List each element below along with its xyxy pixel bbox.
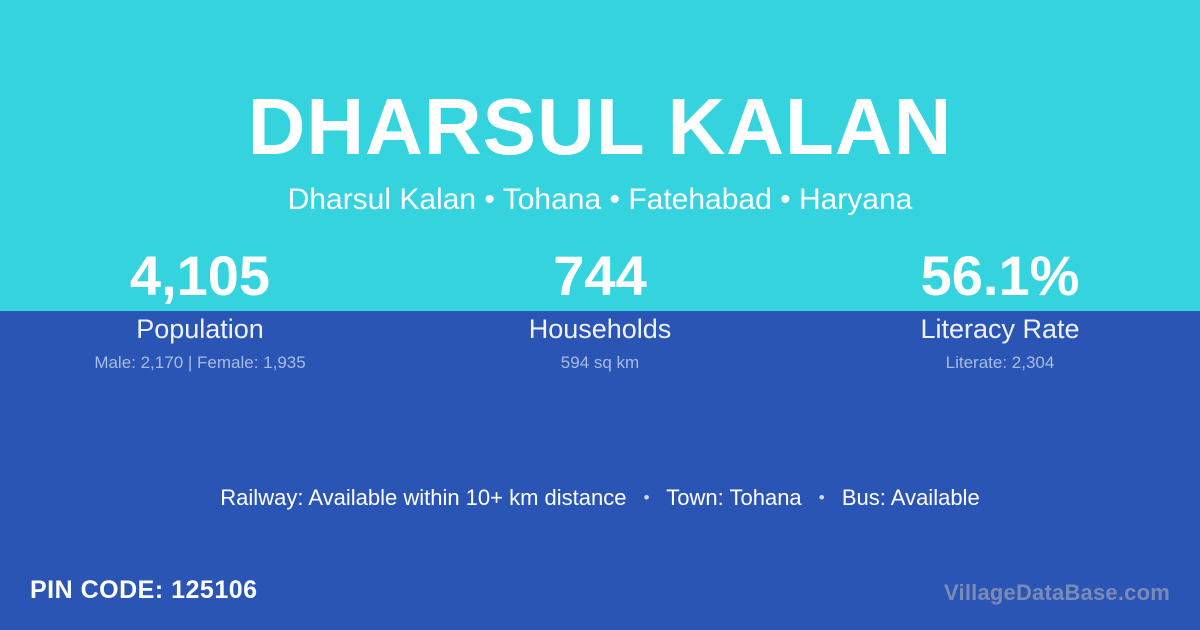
breadcrumb: Dharsul Kalan • Tohana • Fatehabad • Har… (0, 181, 1200, 219)
amenity-railway: Railway: Available within 10+ km distanc… (220, 485, 626, 510)
page-title: DHARSUL KALAN (0, 81, 1200, 173)
stat-households-value: 744 (400, 245, 800, 307)
stat-population-value: 4,105 (0, 245, 400, 307)
stat-population-sub: Male: 2,170 | Female: 1,935 (0, 352, 400, 373)
stat-literacy-rate: 56.1% Literacy Rate Literate: 2,304 (800, 245, 1200, 385)
stat-households-label: Households (400, 313, 800, 345)
stat-households-sub: 594 sq km (400, 352, 800, 373)
site-branding: VillageDataBase.com (944, 578, 1170, 608)
amenity-town: Town: Tohana (666, 485, 801, 510)
village-info-card: DHARSUL KALAN Dharsul Kalan • Tohana • F… (0, 0, 1200, 630)
amenity-bus: Bus: Available (842, 485, 980, 510)
bullet-separator-icon: • (808, 483, 836, 513)
stat-population: 4,105 Population Male: 2,170 | Female: 1… (0, 245, 400, 385)
stat-households: 744 Households 594 sq km (400, 245, 800, 385)
stat-population-label: Population (0, 313, 400, 345)
stat-literacy-rate-label: Literacy Rate (800, 313, 1200, 345)
stat-literacy-rate-sub: Literate: 2,304 (800, 352, 1200, 373)
pin-code: PIN CODE: 125106 (30, 573, 258, 607)
stats-row: 4,105 Population Male: 2,170 | Female: 1… (0, 245, 1200, 385)
bullet-separator-icon: • (633, 483, 661, 513)
amenities-line: Railway: Available within 10+ km distanc… (0, 483, 1200, 513)
stat-literacy-rate-value: 56.1% (800, 245, 1200, 307)
